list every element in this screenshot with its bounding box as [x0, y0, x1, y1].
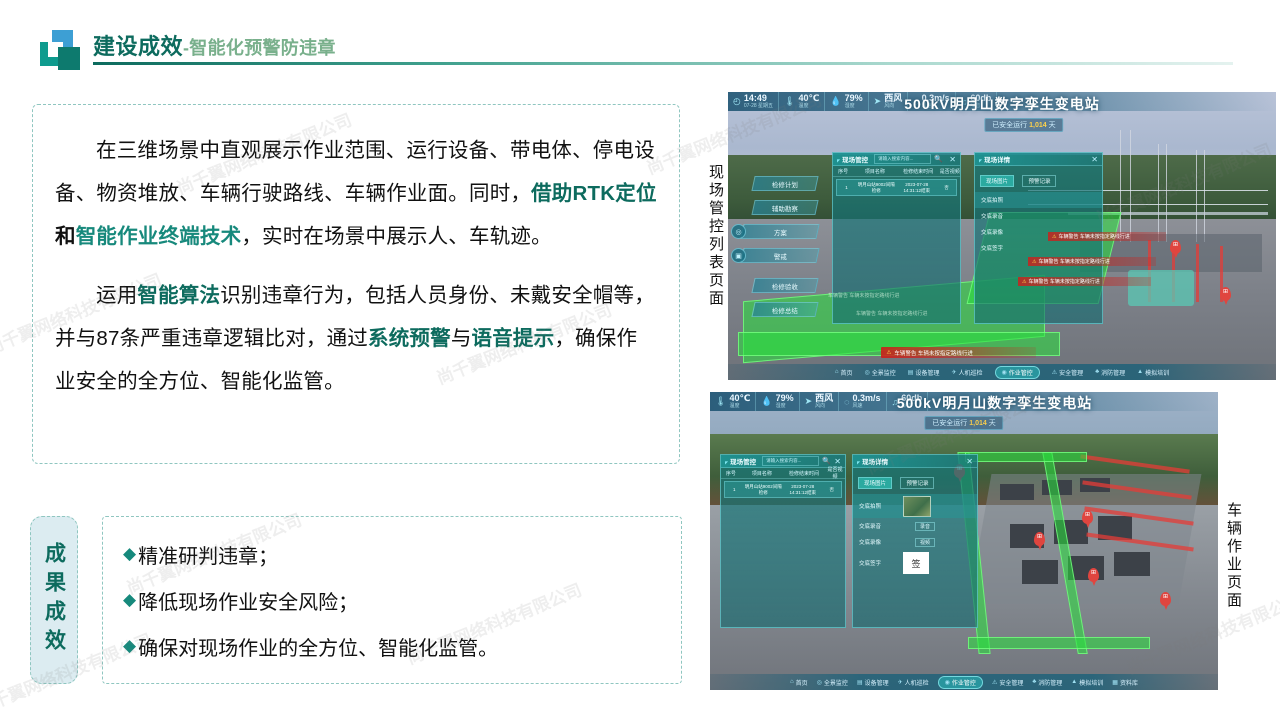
status-wdir-value: 西风 [815, 394, 833, 403]
outcome-section: 成果成效 ◆ 精准研判违章； ◆ 降低现场作业安全风险； ◆ 确保对现场作业的全… [30, 512, 682, 690]
paragraph-2: 运用智能算法识别违章行为，包括人员身份、未戴安全帽等，并与87条严重违章逻辑比对… [33, 274, 679, 403]
tab-alarm-record[interactable]: 预警记录 [1022, 175, 1056, 187]
p1-highlight-rtk: 借助RTK定位 [531, 182, 657, 205]
safe-run-days: 1,014 [969, 420, 987, 427]
list-item: ◆ 精准研判违章； [123, 531, 681, 577]
tab-label: 预警记录 [1028, 177, 1050, 185]
field-value[interactable]: 录音 [915, 522, 935, 531]
sidebar-item-acceptance[interactable]: 检修验收 [751, 278, 818, 293]
p2-highlight-alarm: 系统预警 [368, 327, 451, 350]
p2-seg3: 与 [451, 327, 472, 350]
device-icon: ▤ [857, 679, 863, 686]
field-row-photo[interactable]: 交底拍照 [853, 494, 977, 518]
outcome-item-text: 降低现场作业安全风险； [138, 586, 358, 615]
col-endtime[interactable]: 检修结束时间 [783, 470, 825, 477]
sidebar-label: 检修总结 [772, 305, 798, 315]
sidebar-label: 方案 [774, 227, 787, 237]
field-row-video[interactable]: 交底录像 视频 [853, 534, 977, 550]
panel-site-control: 现场管控 请输入搜索内容... 🔍 ✕ 序号 项目名称 检修结束时间 是否视频 … [720, 454, 846, 628]
field-value[interactable]: 视频 [915, 538, 935, 547]
field-row[interactable]: 交底签字 [975, 240, 1102, 256]
status-wdir-label: 风向 [815, 403, 833, 409]
status-humidity-value: 79% [776, 394, 794, 403]
paragraph-1: 在三维场景中直观展示作业范围、运行设备、带电体、停电设备、物资堆放、车辆行驶路线… [33, 129, 679, 258]
screenshot-site-control-list: ◴ 14:49 07-28 星期五 🌡 40℃ 温度 💧 79% 湿度 ➤ 西风 [728, 92, 1276, 380]
col-video: 是否视频 [825, 466, 845, 480]
outcome-item-text: 精准研判违章； [138, 540, 278, 569]
sidebar-item-plan[interactable]: ◎方案 [740, 224, 819, 239]
status-wind-direction: ➤ 西风 风向 [800, 392, 840, 411]
tab-site-photo[interactable]: 现场图片 [858, 477, 892, 489]
status-temp-value: 40℃ [798, 94, 819, 103]
field-label: 交底录像 [981, 228, 1003, 236]
photo-thumbnail[interactable] [903, 496, 931, 517]
cell-no: 1 [837, 185, 856, 191]
scene-title: 500kV明月山数字孪生变电站 [897, 393, 1092, 413]
description-panel: 在三维场景中直观展示作业范围、运行设备、带电体、停电设备、物资堆放、车辆行驶路线… [32, 104, 680, 464]
camera-icon: ▣ [731, 248, 746, 263]
panel-title: 现场管控 [837, 154, 868, 164]
thermometer-icon: 🌡 [715, 396, 726, 407]
status-humidity-value: 79% [845, 94, 863, 103]
nav-label: 首页 [841, 368, 853, 377]
map-pin[interactable]: ⊞ [1220, 287, 1231, 301]
panel-title: 现场详情 [857, 456, 888, 466]
status-wdir-value: 西风 [884, 94, 902, 103]
nav-label: 人机巡检 [905, 678, 929, 687]
field-label: 交底录音 [859, 522, 881, 530]
field-label: 交底拍照 [859, 502, 881, 510]
home-icon: ⌂ [790, 679, 794, 685]
nav-label: 设备管理 [915, 368, 939, 377]
panel-title: 现场管控 [725, 456, 756, 466]
nav-label: 设备管理 [865, 678, 889, 687]
safety-icon: ⚠ [992, 679, 997, 686]
search-input[interactable]: 请输入搜索内容... [874, 154, 931, 164]
training-icon: ▲ [1071, 679, 1077, 685]
inspection-icon: ✈ [951, 369, 956, 376]
field-label: 交底录音 [981, 212, 1003, 220]
wind-direction-icon: ➤ [874, 96, 882, 107]
nav-fire[interactable]: ♣消防管理 [1095, 368, 1125, 377]
nav-device[interactable]: ▤设备管理 [908, 368, 940, 377]
map-pin[interactable]: ⊞ [1160, 592, 1171, 606]
fire-icon: ♣ [1032, 679, 1036, 685]
alert-banner: ⚠ 车辆警告 车辆未按指定路线行进 [881, 347, 1036, 358]
nav-safety[interactable]: ⚠安全管理 [992, 678, 1023, 687]
field-label: 交底录像 [859, 538, 881, 546]
p1-mid: 和 [55, 225, 76, 248]
search-input[interactable]: 请输入搜索内容... [762, 456, 819, 466]
tab-label: 现场图片 [864, 479, 886, 487]
field-row[interactable]: 交底录音 [975, 208, 1102, 224]
nav-operation[interactable]: ◉作业管控 [938, 676, 983, 689]
device-icon: ▤ [908, 369, 914, 376]
status-humidity: 💧 79% 湿度 [756, 392, 799, 411]
nav-operation[interactable]: ◉作业管控 [995, 366, 1040, 379]
col-endtime[interactable]: 检修结束时间 [896, 168, 939, 175]
humidity-icon: 💧 [830, 96, 841, 107]
search-placeholder: 请输入搜索内容... [766, 458, 801, 464]
warning-text: 车辆警告 车辆未按指定路线行进 [1028, 278, 1099, 285]
warning-ghost-text: 车辆警告 车辆未按指定路线行进 [856, 310, 927, 317]
status-temp-label: 温度 [798, 103, 819, 109]
map-pin[interactable]: ⊞ [1170, 240, 1181, 254]
nav-home[interactable]: ⌂首页 [790, 678, 808, 687]
nav-safety[interactable]: ⚠安全管理 [1052, 368, 1083, 377]
nav-home[interactable]: ⌂首页 [835, 368, 853, 377]
inspection-icon: ✈ [898, 679, 903, 686]
outcome-label-text: 成果成效 [39, 542, 70, 658]
alert-text: 车辆警告 车辆未按指定路线行进 [894, 349, 973, 357]
nav-panorama[interactable]: ◎全景监控 [817, 678, 848, 687]
table-row[interactable]: 1 明月山站9002间隔检修 2023-07-28 14:31:12结束 否 [724, 481, 842, 498]
status-wspeed-value: 0.3m/s [853, 394, 881, 403]
nav-panorama[interactable]: ◎全景监控 [865, 368, 896, 377]
caption-bottom-screenshot: 车辆作业页面 [1224, 502, 1243, 610]
nav-label: 安全管理 [1059, 368, 1083, 377]
status-humidity: 💧 79% 湿度 [825, 92, 868, 111]
safe-run-prefix: 已安全运行 [992, 122, 1027, 129]
safe-run-suffix: 天 [989, 420, 996, 427]
signature-box[interactable]: 签 [903, 552, 929, 574]
field-row-signature[interactable]: 交底签字 签 [853, 550, 977, 576]
field-label: 交底签字 [859, 559, 881, 567]
panel-header: 现场详情 ✕ [975, 153, 1102, 166]
wind-direction-icon: ➤ [805, 396, 813, 407]
sidebar-label: 警戒 [774, 251, 787, 261]
outcome-label-box: 成果成效 [30, 516, 78, 684]
library-icon: ▦ [1112, 679, 1118, 686]
panel-site-detail: 现场详情 ✕ 现场图片 预警记录 交底拍照 交底录音 录音 交底录像 视频 交底… [852, 454, 978, 628]
page-title-sub: -智能化预警防违章 [183, 38, 336, 58]
cell-video: 否 [822, 487, 841, 493]
warning-icon: ⚠ [1022, 279, 1026, 285]
col-name: 项目名称 [741, 470, 783, 477]
home-icon: ⌂ [835, 369, 839, 375]
close-icon[interactable]: ✕ [949, 155, 956, 164]
nav-label: 作业管控 [1009, 368, 1033, 377]
field-label: 交底拍照 [981, 196, 1003, 204]
screenshot-vehicle-operation: ⊞ ⊞ ⊞ ⊞ ⊞ 🌡 40℃ 温度 💧 79% 湿度 ➤ 西风 风向 [710, 392, 1218, 690]
sidebar-item-maintenance-plan[interactable]: 检修计划 [751, 176, 818, 191]
header-divider [93, 62, 1233, 65]
scene-title: 500kV明月山数字孪生变电站 [904, 94, 1099, 114]
nav-label: 作业管控 [952, 678, 976, 687]
outcome-item-text: 确保对现场作业的全方位、智能化监管。 [138, 632, 498, 661]
sidebar-label: 辅助勘察 [772, 203, 798, 213]
safe-run-badge: 已安全运行 1,014 天 [924, 416, 1003, 430]
status-temperature: 🌡 40℃ 温度 [779, 92, 825, 111]
p2-seg1: 运用 [96, 284, 137, 307]
status-temp-label: 温度 [729, 403, 750, 409]
status-wspeed-label: 风速 [853, 403, 881, 409]
field-row-audio[interactable]: 交底录音 录音 [853, 518, 977, 534]
p2-highlight-algorithm: 智能算法 [137, 284, 220, 307]
caption-top-screenshot: 现场管控列表页面 [706, 164, 725, 308]
p1-highlight-terminal: 智能作业终端技术 [76, 225, 242, 248]
diamond-bullet-icon: ◆ [123, 544, 136, 564]
map-pin[interactable]: ⊞ [1082, 510, 1093, 524]
status-temp-value: 40℃ [729, 394, 750, 403]
status-wind-speed: ◌ 0.3m/s 风速 [839, 392, 886, 411]
safe-run-prefix: 已安全运行 [932, 420, 967, 427]
nav-library[interactable]: ▦资料库 [1112, 678, 1138, 687]
target-icon: ◎ [731, 224, 746, 239]
status-temperature: 🌡 40℃ 温度 [710, 392, 756, 411]
col-no: 序号 [833, 168, 853, 175]
humidity-icon: 💧 [761, 396, 772, 407]
status-humidity-label: 湿度 [776, 403, 794, 409]
scene-bottom-nav: ⌂首页 ◎全景监控 ▤设备管理 ✈人机巡检 ◉作业管控 ⚠安全管理 ♣消防管理 … [728, 364, 1276, 380]
table-header: 序号 项目名称 检修结束时间 是否视频 [721, 468, 845, 479]
panel-title: 现场详情 [979, 154, 1010, 164]
safe-run-suffix: 天 [1049, 122, 1056, 129]
col-no: 序号 [721, 470, 741, 477]
p2-highlight-voice: 语音提示 [472, 327, 555, 350]
nav-label: 消防管理 [1038, 678, 1062, 687]
sidebar-label: 检修计划 [772, 179, 798, 189]
fire-icon: ♣ [1095, 369, 1099, 375]
warning-strip: ⚠ 车辆警告 车辆未按指定路线行进 [1028, 257, 1156, 266]
sidebar-item-aux-survey[interactable]: 辅助勘察 [751, 200, 818, 215]
diamond-bullet-icon: ◆ [123, 636, 136, 656]
nav-fire[interactable]: ♣消防管理 [1032, 678, 1062, 687]
status-time-value: 14:49 [744, 94, 773, 103]
nav-label: 模拟培训 [1145, 368, 1169, 377]
list-item: ◆ 降低现场作业安全风险； [123, 577, 681, 623]
nav-inspection[interactable]: ✈人机巡检 [951, 368, 982, 377]
field-label: 交底签字 [981, 244, 1003, 252]
tab-label: 预警记录 [906, 479, 928, 487]
page-title-main: 建设成效 [93, 34, 183, 59]
page-header: 建设成效-智能化预警防违章 [0, 0, 1280, 76]
status-wdir-label: 风向 [884, 103, 902, 109]
search-icon[interactable]: 🔍 [934, 155, 943, 163]
sidebar-item-guard[interactable]: ▣警戒 [740, 248, 819, 263]
panorama-icon: ◎ [865, 369, 870, 376]
tab-site-photo[interactable]: 现场图片 [980, 175, 1014, 187]
safety-icon: ⚠ [1052, 369, 1057, 376]
cell-time: 2023-07-28 14:31:12结束 [783, 484, 822, 496]
status-wind-direction: ➤ 西风 风向 [869, 92, 909, 111]
alert-icon: ⚠ [886, 350, 891, 356]
training-icon: ▲ [1137, 369, 1143, 375]
clock-icon: ◴ [733, 96, 741, 107]
col-video: 是否视频 [940, 168, 960, 175]
status-humidity-label: 湿度 [845, 103, 863, 109]
nav-label: 安全管理 [999, 678, 1023, 687]
nav-label: 首页 [796, 678, 808, 687]
close-icon[interactable]: ✕ [834, 457, 841, 466]
nav-inspection[interactable]: ✈人机巡检 [898, 678, 929, 687]
nav-label: 人机巡检 [959, 368, 983, 377]
nav-training[interactable]: ▲模拟培训 [1137, 368, 1169, 377]
status-time: ◴ 14:49 07-28 星期五 [728, 92, 779, 111]
scene-bottom-nav: ⌂首页 ◎全景监控 ▤设备管理 ✈人机巡检 ◉作业管控 ⚠安全管理 ♣消防管理 … [710, 674, 1218, 690]
nav-label: 资料库 [1120, 678, 1138, 687]
cell-no: 1 [725, 487, 744, 493]
warning-strip: ⚠ 车辆警告 车辆未按指定路线行进 [1048, 232, 1166, 241]
search-placeholder: 请输入搜索内容... [878, 156, 913, 162]
field-row[interactable]: 交底拍照 [975, 192, 1102, 208]
table-header: 序号 项目名称 检修结束时间 是否视频 [833, 166, 960, 177]
warning-icon: ⚠ [1032, 259, 1036, 265]
thermometer-icon: 🌡 [784, 96, 795, 107]
cell-video: 否 [937, 185, 956, 191]
nav-label: 全景监控 [872, 368, 896, 377]
nav-training[interactable]: ▲模拟培训 [1071, 678, 1103, 687]
operation-icon: ◉ [1002, 369, 1007, 376]
wind-speed-icon: ◌ [844, 397, 849, 407]
cell-name: 明月山站9002间隔检修 [856, 182, 896, 194]
list-item: ◆ 确保对现场作业的全方位、智能化监管。 [123, 623, 681, 669]
panorama-icon: ◎ [817, 679, 822, 686]
panel-header: 现场管控 请输入搜索内容... 🔍 ✕ [833, 153, 960, 166]
close-icon[interactable]: ✕ [966, 457, 973, 466]
warning-ghost-text: 车辆警告 车辆未按指定路线行进 [828, 292, 899, 299]
p1-seg2: ，实时在场景中展示人、车轨迹。 [241, 225, 552, 248]
outcome-list-box: ◆ 精准研判违章； ◆ 降低现场作业安全风险； ◆ 确保对现场作业的全方位、智能… [102, 516, 682, 684]
warning-text: 车辆警告 车辆未按指定路线行进 [1058, 233, 1129, 240]
operation-icon: ◉ [945, 679, 950, 686]
tab-alarm-record[interactable]: 预警记录 [900, 477, 934, 489]
cell-name: 明月山站9002间隔检修 [744, 484, 783, 496]
warning-strip: ⚠ 车辆警告 车辆未按指定路线行进 [1018, 277, 1151, 286]
cell-time: 2023-07-28 14:31:12结束 [896, 182, 936, 194]
brand-squares-logo [37, 30, 83, 70]
search-icon[interactable]: 🔍 [822, 457, 831, 465]
diamond-bullet-icon: ◆ [123, 590, 136, 610]
safe-run-days: 1,014 [1029, 122, 1047, 129]
tab-label: 现场图片 [986, 177, 1008, 185]
sidebar-label: 检修验收 [772, 281, 798, 291]
nav-label: 消防管理 [1101, 368, 1125, 377]
map-pin[interactable]: ⊞ [1088, 568, 1099, 582]
sidebar-item-summary[interactable]: 检修总结 [751, 302, 818, 317]
status-time-label: 07-28 星期五 [744, 103, 773, 109]
table-row[interactable]: 1 明月山站9002间隔检修 2023-07-28 14:31:12结束 否 [836, 179, 957, 196]
warning-text: 车辆警告 车辆未按指定路线行进 [1038, 258, 1109, 265]
nav-label: 模拟培训 [1079, 678, 1103, 687]
col-name: 项目名称 [853, 168, 896, 175]
nav-label: 全景监控 [824, 678, 848, 687]
page-title: 建设成效-智能化预警防违章 [93, 29, 336, 61]
safe-run-badge: 已安全运行 1,014 天 [984, 118, 1063, 132]
map-pin[interactable]: ⊞ [1034, 532, 1045, 546]
close-icon[interactable]: ✕ [1091, 155, 1098, 164]
panel-header: 现场详情 ✕ [853, 455, 977, 468]
nav-device[interactable]: ▤设备管理 [857, 678, 889, 687]
warning-icon: ⚠ [1052, 234, 1056, 240]
